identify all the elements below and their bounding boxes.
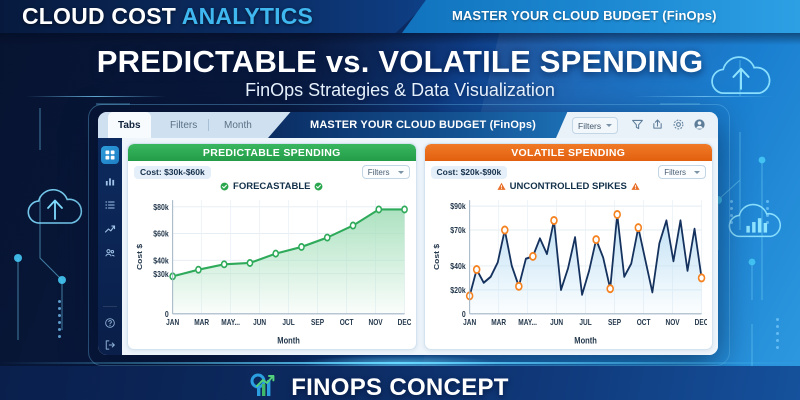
svg-text:MAR: MAR: [491, 317, 507, 327]
app-window: Tabs Filters Month MASTER YOUR CLOUD BUD…: [98, 112, 718, 355]
hero-subtitle: FinOps Strategies & Data Visualization: [0, 80, 800, 101]
users-icon: [104, 247, 116, 259]
chevron-down-icon: [606, 124, 612, 127]
svg-text:JUL: JUL: [282, 317, 295, 327]
check-circle-icon: [314, 182, 323, 191]
svg-text:OCT: OCT: [636, 317, 650, 327]
tab-filters[interactable]: Filters: [160, 112, 207, 138]
hero-title: PREDICTABLE vs. VOLATILE SPENDING: [0, 44, 800, 80]
svg-text:Month: Month: [574, 335, 597, 346]
window-title: MASTER YOUR CLOUD BUDGET (FinOps): [298, 112, 548, 138]
panel-volatile-header: VOLATILE SPENDING: [425, 144, 713, 161]
panel-predictable-filters-label: Filters: [368, 168, 390, 177]
help-icon: [104, 317, 116, 329]
panel-volatile: VOLATILE SPENDING Cost: $20k-$90k Filter…: [424, 143, 714, 350]
panels-row: PREDICTABLE SPENDING Cost: $30k-$60k Fil…: [127, 143, 713, 350]
sidebar-item-trend[interactable]: [101, 220, 119, 238]
svg-text:DEC: DEC: [694, 317, 707, 327]
warning-triangle-icon: [497, 182, 506, 191]
toolbar-filters-dropdown[interactable]: Filters: [572, 117, 618, 134]
gear-icon[interactable]: [672, 118, 685, 131]
logout-icon: [104, 339, 116, 351]
warning-triangle-icon: [631, 182, 640, 191]
chevron-down-icon: [398, 171, 404, 174]
hero-divider-right: [634, 96, 774, 97]
svg-text:$90k: $90k: [450, 202, 466, 212]
brand-title: CLOUD COST ANALYTICS: [22, 3, 313, 30]
svg-text:Month: Month: [277, 335, 300, 346]
check-circle-icon: [220, 182, 229, 191]
tab-divider: [208, 119, 209, 131]
panel-volatile-note: UNCONTROLLED SPIKES: [425, 181, 713, 192]
sidebar-item-bar-chart[interactable]: [101, 172, 119, 190]
hero-divider-left: [26, 96, 166, 97]
sidebar-item-users[interactable]: [101, 244, 119, 262]
user-icon[interactable]: [693, 118, 706, 131]
svg-text:OCT: OCT: [340, 317, 354, 327]
toolbar-filters-label: Filters: [578, 121, 601, 131]
svg-text:SEP: SEP: [311, 317, 324, 327]
top-banner: CLOUD COST ANALYTICS MASTER YOUR CLOUD B…: [0, 0, 800, 33]
svg-text:$40k: $40k: [153, 256, 169, 266]
bar-chart-icon: [104, 175, 116, 187]
list-icon: [104, 199, 116, 211]
panel-predictable-note: FORECASTABLE: [128, 181, 416, 192]
panel-predictable-note-label: FORECASTABLE: [233, 181, 310, 192]
screenshot-root: CLOUD COST ANALYTICS MASTER YOUR CLOUD B…: [0, 0, 800, 400]
panel-volatile-filters-label: Filters: [664, 168, 686, 177]
panel-volatile-cost-badge: Cost: $20k-$90k: [431, 166, 508, 179]
tab-month-label: Month: [224, 120, 252, 131]
svg-text:JAN: JAN: [463, 317, 476, 327]
window-titlebar: Tabs Filters Month MASTER YOUR CLOUD BUD…: [98, 112, 718, 138]
svg-text:Cost $: Cost $: [136, 243, 144, 270]
tab-tabs[interactable]: Tabs: [108, 112, 151, 138]
svg-text:$40k: $40k: [450, 261, 466, 271]
sidebar-item-list[interactable]: [101, 196, 119, 214]
svg-text:MAY...: MAY...: [221, 317, 240, 327]
svg-text:$70k: $70k: [450, 226, 466, 236]
brand-title-main: CLOUD COST: [22, 3, 182, 29]
panel-predictable-filters-select[interactable]: Filters: [362, 165, 410, 179]
tab-filters-label: Filters: [170, 120, 197, 131]
svg-text:JUN: JUN: [253, 317, 266, 327]
svg-text:MAR: MAR: [194, 317, 210, 327]
panel-predictable-controls: Cost: $30k-$60k Filters: [128, 161, 416, 180]
window-content: PREDICTABLE SPENDING Cost: $30k-$60k Fil…: [122, 138, 718, 355]
svg-text:$30k: $30k: [153, 269, 169, 279]
sidebar-divider: [103, 306, 117, 307]
panel-volatile-filters-select[interactable]: Filters: [658, 165, 706, 179]
panel-predictable-plot: 0$30k$40k$60k$80kJANMARMAY...JUNJULSEPOC…: [128, 192, 416, 349]
svg-text:JAN: JAN: [166, 317, 179, 327]
svg-text:SEP: SEP: [608, 317, 621, 327]
trend-up-icon: [104, 223, 116, 235]
svg-text:Cost $: Cost $: [432, 243, 440, 270]
panel-volatile-controls: Cost: $20k-$90k Filters: [425, 161, 713, 180]
chevron-down-icon: [694, 171, 700, 174]
svg-text:$60k: $60k: [153, 229, 169, 239]
brand-title-accent: ANALYTICS: [182, 3, 313, 29]
svg-text:NOV: NOV: [665, 317, 679, 327]
svg-text:NOV: NOV: [368, 317, 382, 327]
top-banner-subtitle: MASTER YOUR CLOUD BUDGET (FinOps): [452, 8, 717, 23]
sidebar-item-grid[interactable]: [101, 146, 119, 164]
panel-volatile-plot: 0$20k$40k$70k$90kJANMARMAY...JUNJULSEPOC…: [425, 192, 713, 349]
panel-predictable-cost-badge: Cost: $30k-$60k: [134, 166, 211, 179]
svg-text:$20k: $20k: [450, 285, 466, 295]
tab-month[interactable]: Month: [214, 112, 262, 138]
svg-text:$80k: $80k: [153, 202, 169, 212]
svg-text:MAY...: MAY...: [518, 317, 537, 327]
funnel-icon[interactable]: [631, 118, 644, 131]
svg-text:JUN: JUN: [550, 317, 563, 327]
panel-volatile-note-label: UNCONTROLLED SPIKES: [510, 181, 627, 192]
share-icon[interactable]: [651, 118, 664, 131]
app-sidebar: [98, 138, 122, 355]
sidebar-item-logout[interactable]: [101, 336, 119, 354]
panel-predictable: PREDICTABLE SPENDING Cost: $30k-$60k Fil…: [127, 143, 417, 350]
tab-tabs-label: Tabs: [118, 120, 141, 131]
svg-text:JUL: JUL: [579, 317, 592, 327]
svg-text:DEC: DEC: [398, 317, 411, 327]
sidebar-item-help[interactable]: [101, 314, 119, 332]
grid-icon: [104, 149, 116, 161]
bottom-title: FINOPS CONCEPT: [0, 374, 800, 400]
panel-predictable-header: PREDICTABLE SPENDING: [128, 144, 416, 161]
